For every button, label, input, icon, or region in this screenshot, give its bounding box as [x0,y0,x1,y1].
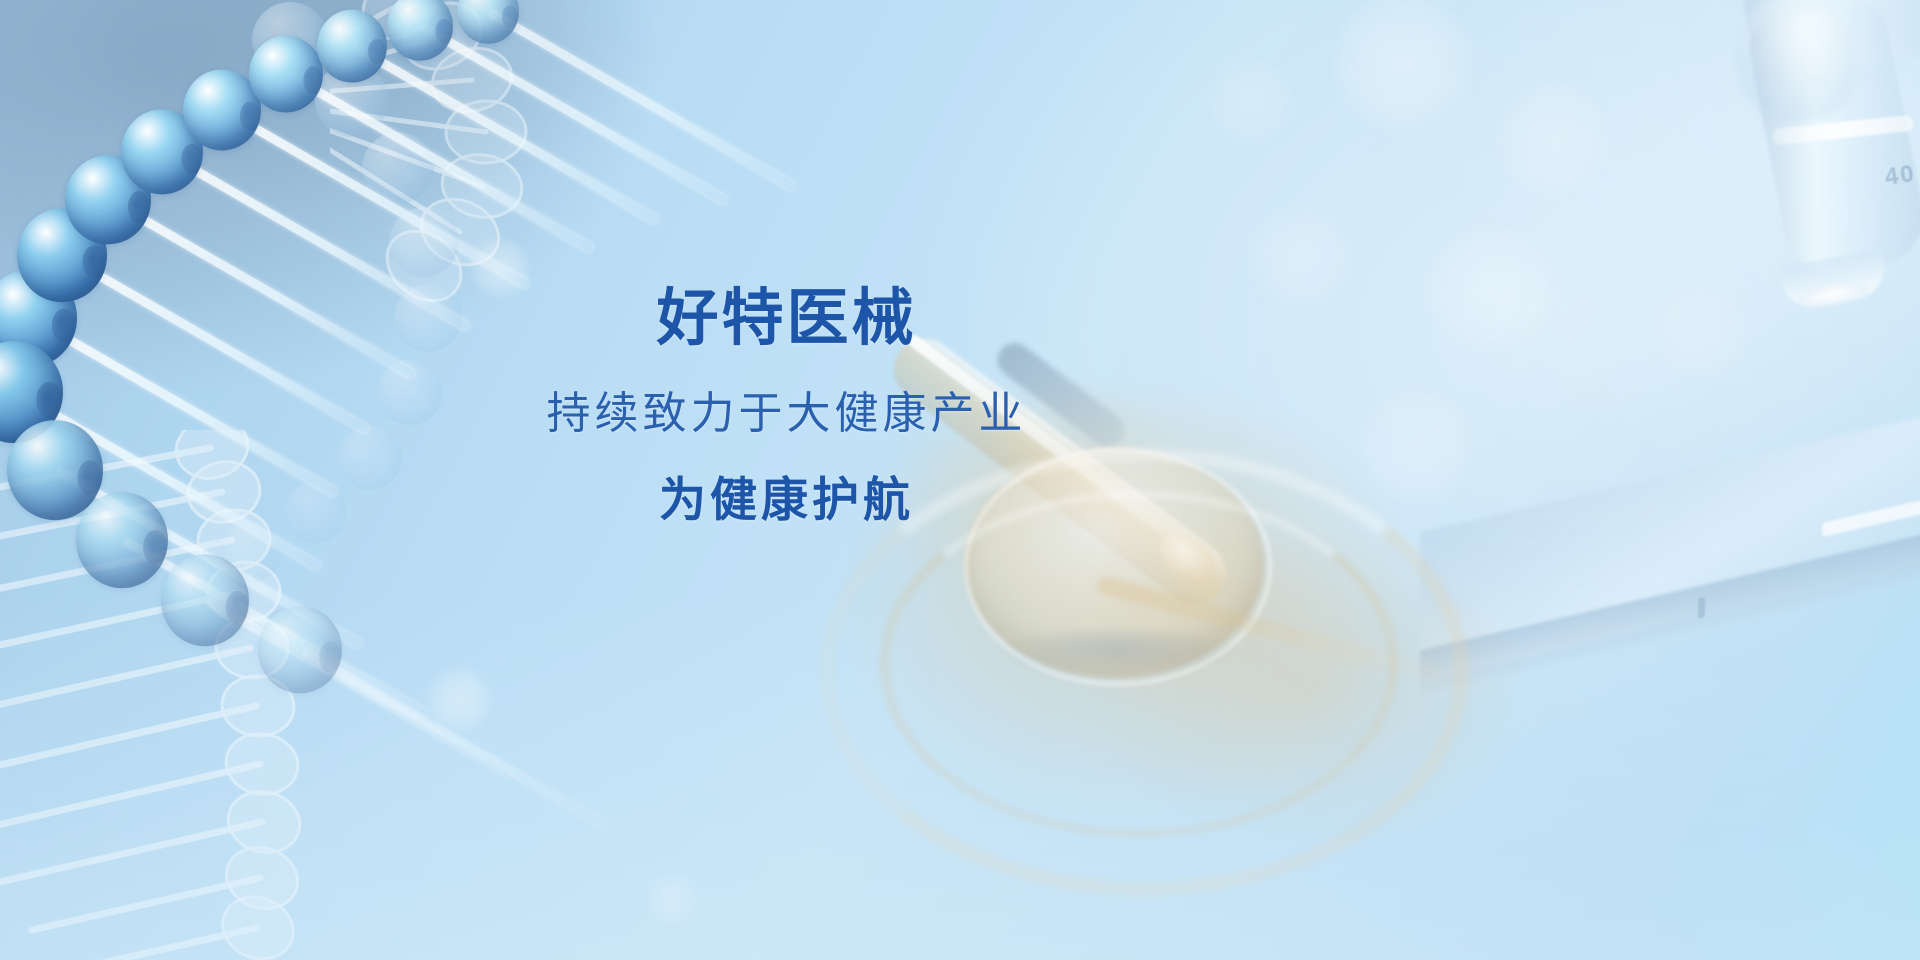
dna-node-back [252,2,328,78]
dna-node [161,554,249,646]
microscope-objective-body [1744,0,1920,281]
dna-node-notch [181,143,202,173]
dna-node [121,109,203,194]
bokeh-spot [1494,82,1610,198]
dna-spiral-fan-faded [330,0,650,310]
bokeh-spot [1332,0,1476,134]
dna-spiral-fan-svg [330,0,650,310]
microscope-turret [1731,0,1920,87]
dna-node [258,606,342,693]
dna-rod [352,43,660,226]
dna-node [183,69,261,150]
microscope-ring-band [1772,115,1915,146]
dna-node-notch [319,641,341,672]
microscope-lens-glass [1795,279,1871,313]
dna-node [249,36,323,113]
hero-subtitle: 持续致力于大健康产业 [0,392,1573,436]
dna-node [317,10,387,83]
dna-node-notch [240,102,260,131]
beaker-inner-arc [880,490,1398,838]
dna-node-notch [83,246,106,279]
bokeh-spot [1206,56,1294,144]
dna-node-back [222,522,282,582]
dna-rod [205,597,513,780]
dna-node-notch [368,39,386,65]
petri-dish-base-shadow [998,630,1236,676]
dna-rod [420,23,728,206]
stage-clip [1822,493,1920,537]
dna-node-notch [435,19,452,43]
microscope-shoulder [1725,0,1868,132]
bokeh-spot [646,874,698,926]
bokeh-spot [428,668,492,732]
dna-rod [488,9,796,192]
dna-node-back [389,207,459,277]
dna-node-back [315,63,389,137]
dna-rod [122,537,430,720]
dna-node-notch [303,66,322,93]
dna-node-notch [143,530,167,564]
microscope-objective-lens: 40 [1700,0,1920,390]
dna-node-notch [128,191,150,223]
dna-node-notch [225,591,248,624]
stage-notch [1698,597,1706,619]
dna-rod [222,107,530,290]
page-title: 好特医械 [0,288,1573,350]
microscope-lens-tip [1779,248,1889,311]
dna-node [387,0,453,60]
microscope-magnification-label: 40 [1883,160,1917,192]
bokeh-spot [1650,280,1750,380]
dna-node-notch [502,5,518,28]
hero-banner: 40 [0,0,1920,960]
stage-front-edge [1420,526,1920,697]
dna-node-back [362,132,434,204]
hero-tagline: 为健康护航 [0,476,1573,523]
glassware-amber-strand [1095,575,1515,704]
dna-node [457,0,519,44]
test-tube-rim [1150,523,1224,592]
dna-rod [300,647,608,830]
hero-text-block: 好特医械 持续致力于大健康产业 为健康护航 [0,288,1573,523]
dna-node [65,155,151,244]
dna-rod [286,71,594,254]
